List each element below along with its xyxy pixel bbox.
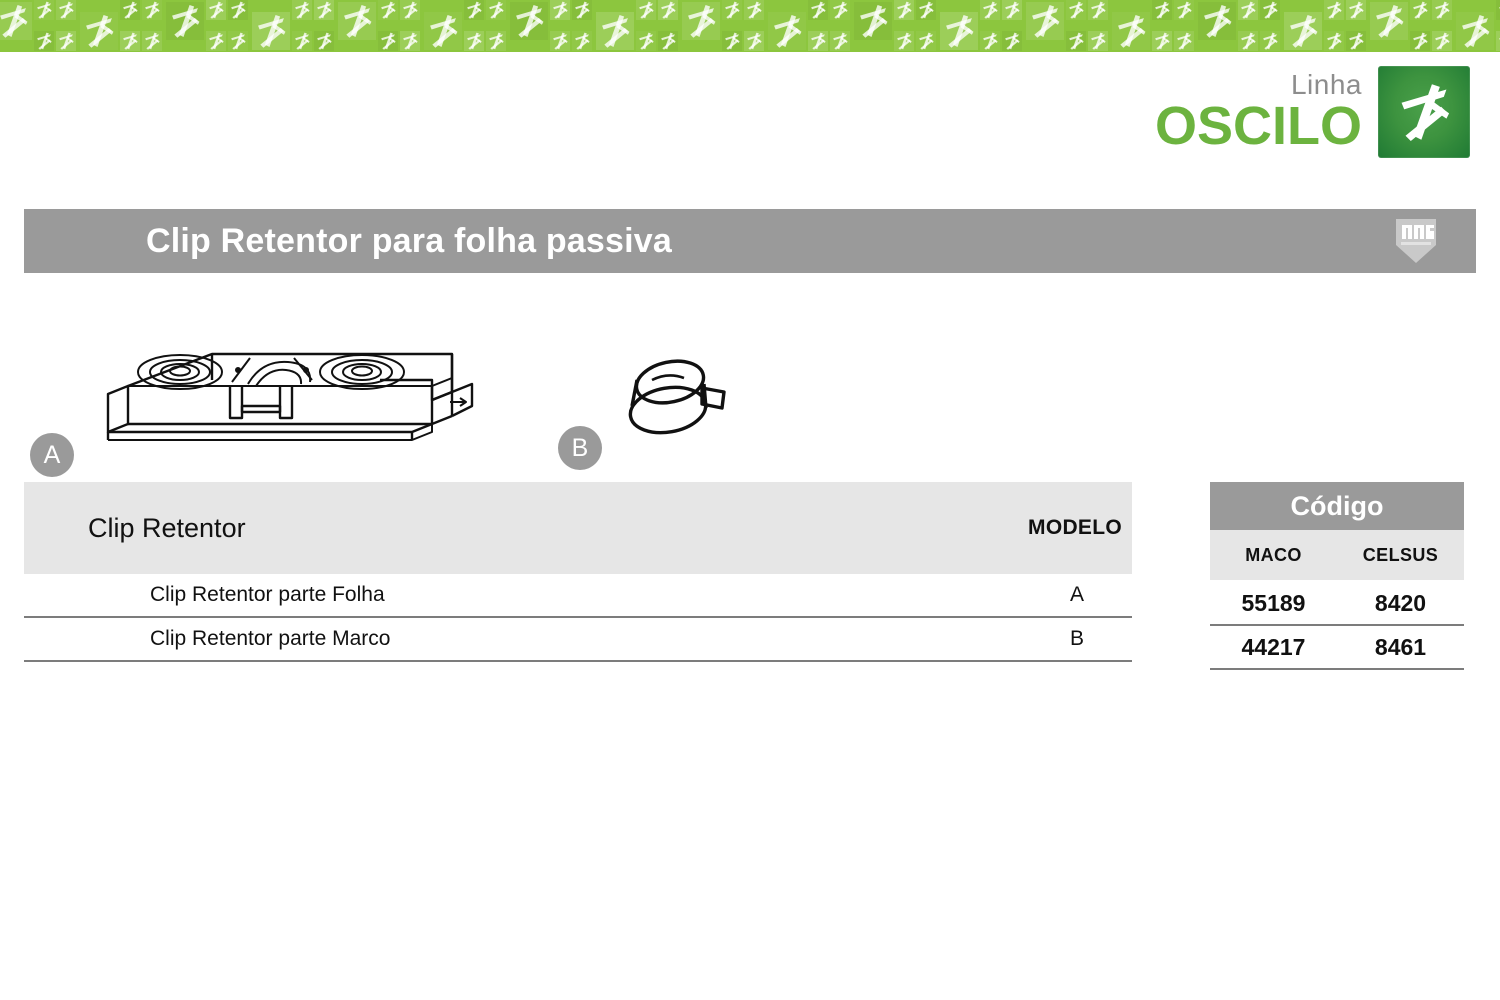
spec-row-label: Clip Retentor parte Folha: [150, 583, 385, 607]
codes-table-header: Código: [1210, 482, 1464, 530]
codes-cell-celsus: 8420: [1337, 590, 1464, 617]
codes-table-columns: MACO CELSUS: [1210, 530, 1464, 580]
table-row[interactable]: Clip Retentor parte Folha A: [24, 574, 1132, 618]
brand-wordmark: Linha OSCILO: [1155, 71, 1362, 152]
table-row[interactable]: Clip Retentor parte Marco B: [24, 618, 1132, 662]
codes-column-maco: MACO: [1210, 545, 1337, 566]
star-a-logo-icon: [1378, 66, 1470, 158]
table-row[interactable]: 55189 8420: [1210, 582, 1464, 626]
brand-lockup: Linha OSCILO: [1155, 66, 1470, 158]
product-figure-a: [80, 340, 480, 455]
page-title: Clip Retentor para folha passiva: [146, 222, 672, 261]
spec-row-modelo: B: [1070, 627, 1084, 651]
figure-badge-a: A: [30, 433, 74, 477]
brand-product-line: OSCILO: [1155, 101, 1362, 152]
figure-badge-b: B: [558, 426, 602, 470]
spec-row-label: Clip Retentor parte Marco: [150, 627, 390, 651]
spec-table: Clip Retentor MODELO Clip Retentor parte…: [24, 482, 1132, 662]
table-row[interactable]: 44217 8461: [1210, 626, 1464, 670]
spec-row-modelo: A: [1070, 583, 1084, 607]
codes-column-celsus: CELSUS: [1337, 545, 1464, 566]
codes-cell-maco: 44217: [1210, 634, 1337, 661]
spec-table-title: Clip Retentor: [88, 513, 246, 544]
codes-cell-maco: 55189: [1210, 590, 1337, 617]
spec-column-modelo-label: MODELO: [1028, 516, 1122, 540]
banner-tile-pattern: [0, 0, 1500, 52]
decorative-banner: [0, 0, 1500, 52]
maco-shield-logo-icon: [1388, 215, 1444, 267]
brand-linha-label: Linha: [1291, 71, 1362, 99]
codes-table: Código MACO CELSUS 55189 8420 44217 8461: [1210, 482, 1464, 670]
codes-table-title: Código: [1291, 491, 1384, 522]
codes-cell-celsus: 8461: [1337, 634, 1464, 661]
spec-table-header: Clip Retentor MODELO: [24, 482, 1132, 574]
page-title-bar: Clip Retentor para folha passiva: [24, 209, 1476, 273]
catalog-page: Linha OSCILO Clip Retentor para folha pa…: [0, 0, 1500, 1000]
product-figure-b: [618, 352, 736, 447]
